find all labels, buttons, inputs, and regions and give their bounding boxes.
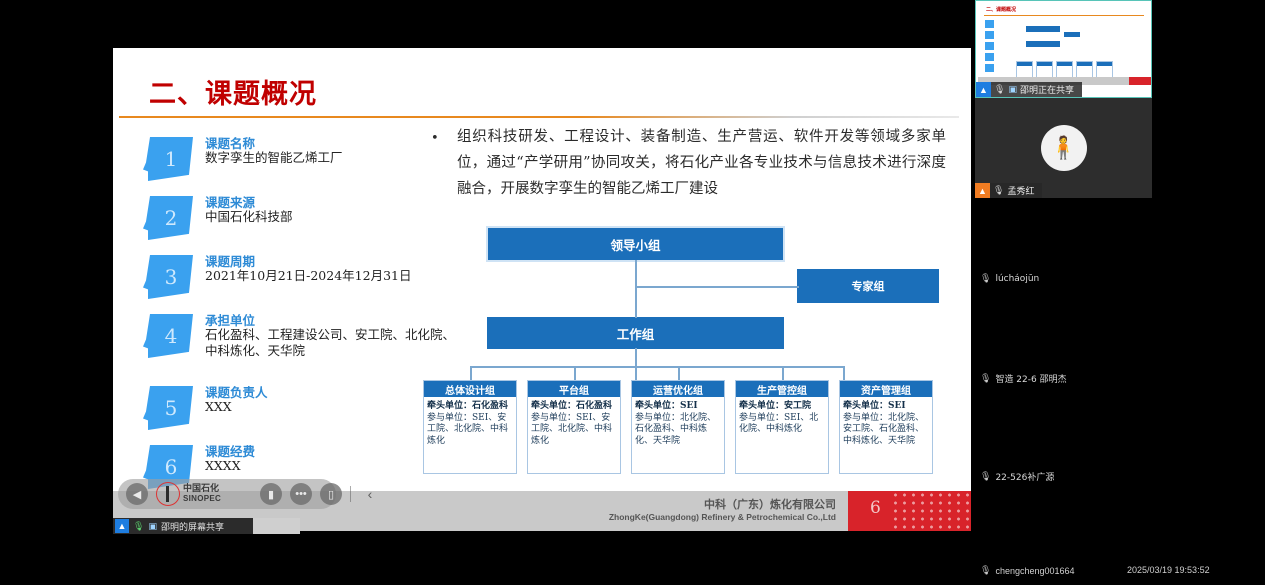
org-leaf-body: 牵头单位：石化盈科 参与单位：SEI、安工院、北化院、中科炼化	[528, 398, 620, 447]
slide-title: 二、课题概况	[149, 72, 317, 111]
participant-name: 22-526补广源	[995, 470, 1054, 483]
camera-icon: ▣	[1008, 84, 1017, 95]
org-leaf-title: 资产管理组	[840, 381, 932, 398]
participant-name-row: 🎙 lúcháojūn	[980, 274, 1039, 284]
org-node-worker: 工作组	[488, 318, 783, 348]
shared-screen-stage: 二、课题概况 1 课题名称 数字孪生的智能乙烯工厂 2 课题来源 中国石化科技部…	[0, 0, 975, 538]
status-user: 🎙 chengcheng001664	[980, 565, 1075, 576]
speaking-indicator-icon: ▲	[975, 183, 990, 198]
participant-name: 智造 22-6 邵明杰	[995, 372, 1066, 385]
lead-value: SEI	[680, 401, 698, 411]
share-indicator-bar: ▲ 🎙 ▣ 邵明的屏幕共享	[113, 518, 253, 534]
org-leaf-body: 牵头单位：SEI 参与单位：北化院、安工院、石化盈科、中科炼化、天华院	[840, 398, 932, 447]
member-label: 参与单位：	[635, 413, 680, 423]
avatar: 🧍	[1041, 125, 1087, 171]
mini-badge	[985, 64, 994, 72]
member-label: 参与单位：	[531, 413, 576, 423]
share-indicator-label: 邵明的屏幕共享	[161, 520, 224, 533]
mini-slide-title: 二、课题概况	[986, 6, 1016, 13]
bullet-icon: •	[431, 126, 439, 152]
stage-bottom-filler	[0, 538, 975, 585]
mini-badge	[985, 42, 994, 50]
mini-org-leader	[1026, 26, 1060, 32]
lead-label: 牵头单位：	[843, 401, 888, 411]
item-number-badge: 4	[143, 314, 193, 358]
org-connector	[470, 366, 843, 368]
org-connector	[470, 366, 472, 380]
mini-org-worker	[1026, 41, 1060, 47]
org-connector	[635, 286, 799, 288]
chevron-left-icon[interactable]: ‹	[359, 483, 381, 505]
title-divider	[119, 116, 959, 118]
paragraph-text: 组织科技研发、工程设计、装备制造、生产营运、软件开发等领域多家单位，通过“产学研…	[457, 124, 946, 202]
lead-value: 石化盈科	[576, 401, 612, 411]
sinopec-logo: 中国石化 SINOPEC	[156, 481, 252, 507]
mini-badge	[985, 31, 994, 39]
org-leaf-body: 牵头单位：石化盈科 参与单位：SEI、安工院、北化院、中科炼化	[424, 398, 516, 447]
sinopec-en: SINOPEC	[183, 494, 221, 504]
share-indicator-tail	[253, 518, 300, 534]
org-node-leader: 领导小组	[488, 228, 783, 260]
org-connector	[635, 348, 637, 380]
slide-page-number: 6	[870, 498, 881, 518]
participant-name: lúcháojūn	[995, 274, 1039, 284]
participant-name-row: 🎙 智造 22-6 邵明杰	[980, 372, 1067, 385]
toolbar-divider	[350, 486, 351, 502]
self-video-tile[interactable]: 🧍 ▲ 🎙 孟秀红	[975, 98, 1152, 198]
mini-badge	[985, 53, 994, 61]
org-leaf-node: 资产管理组 牵头单位：SEI 参与单位：北化院、安工院、石化盈科、中科炼化、天华…	[839, 380, 933, 474]
participant-list: 🎙 lúcháojūn 🎙 智造 22-6 邵明杰 🎙 22-526补广源	[975, 270, 1265, 564]
org-leaf-title: 生产管控组	[736, 381, 828, 398]
more-dots-icon[interactable]: •••	[290, 483, 312, 505]
slide-paragraph: • 组织科技研发、工程设计、装备制造、生产营运、软件开发等领域多家单位，通过“产…	[431, 124, 946, 202]
sinopec-logo-text: 中国石化 SINOPEC	[183, 484, 221, 504]
org-leaf-title: 运营优化组	[632, 381, 724, 398]
sinopec-mark-icon	[156, 482, 180, 506]
mini-divider	[984, 15, 1144, 16]
mini-badge	[985, 20, 994, 28]
lead-value: 安工院	[784, 401, 811, 411]
org-leaf-node: 运营优化组 牵头单位：SEI 参与单位：北化院、石化盈科、中科炼化、天华院	[631, 380, 725, 474]
self-tile-name: 孟秀红	[1007, 184, 1034, 197]
item-number-badge: 1	[143, 137, 193, 181]
item-number-badge: 3	[143, 255, 193, 299]
lead-value: SEI	[888, 401, 906, 411]
org-connector	[843, 366, 845, 380]
status-timestamp: 2025/03/19 19:53:52	[1127, 565, 1210, 575]
org-connector	[635, 260, 637, 318]
mic-muted-icon: 🎙	[980, 274, 991, 284]
list-item: 1 课题名称 数字孪生的智能乙烯工厂	[143, 133, 463, 192]
presentation-slide: 二、课题概况 1 课题名称 数字孪生的智能乙烯工厂 2 课题来源 中国石化科技部…	[113, 48, 971, 531]
status-user-name: chengcheng001664	[995, 566, 1074, 576]
camera-icon[interactable]: ▮	[260, 483, 282, 505]
lead-label: 牵头单位：	[427, 401, 472, 411]
mini-slide-preview: 二、课题概况	[978, 3, 1151, 85]
org-node-expert: 专家组	[798, 270, 938, 302]
mic-icon[interactable]: 🎙	[133, 521, 144, 532]
mic-muted-icon: 🎙	[980, 374, 991, 384]
item-body: 数字孪生的智能乙烯工厂	[205, 150, 465, 166]
org-connector	[574, 366, 576, 380]
org-leaf-body: 牵头单位：安工院 参与单位：SEI、北化院、中科炼化	[736, 398, 828, 436]
participant-row[interactable]: 🎙 lúcháojūn	[975, 270, 1265, 368]
org-leaf-title: 总体设计组	[424, 381, 516, 398]
lead-value: 石化盈科	[472, 401, 508, 411]
footer-company-cn: 中科（广东）炼化有限公司	[704, 496, 836, 512]
mic-muted-icon: 🎙	[994, 84, 1005, 95]
org-connector	[678, 366, 680, 380]
member-label: 参与单位：	[427, 413, 472, 423]
org-leaf-title: 平台组	[528, 381, 620, 398]
org-chart: 领导小组 专家组 工作组 总体设计组 牵头单位：石化盈科	[413, 228, 958, 513]
mic-muted-icon: 🎙	[980, 565, 991, 576]
footer-company-en: ZhongKe(Guangdong) Refinery & Petrochemi…	[609, 512, 836, 522]
participant-row[interactable]: 🎙 22-526补广源	[975, 466, 1265, 564]
item-body: 中国石化科技部	[205, 209, 465, 225]
presenter-toolbar[interactable]: ◀ 中国石化 SINOPEC ▮ ••• ▯ ‹	[118, 479, 336, 509]
lead-label: 牵头单位：	[739, 401, 784, 411]
footer-accent-block: 6	[848, 491, 971, 531]
shared-screen-thumbnail[interactable]: 二、课题概况 ▲ 🎙 ▣ 邵明正在共	[975, 0, 1152, 98]
participant-rail: 二、课题概况 ▲ 🎙 ▣ 邵明正在共	[975, 0, 1265, 585]
self-tile-name-label: ▲ 🎙 孟秀红	[975, 183, 1042, 198]
org-leaf-node: 平台组 牵头单位：石化盈科 参与单位：SEI、安工院、北化院、中科炼化	[527, 380, 621, 474]
dot-pattern-decoration	[891, 491, 971, 531]
slide-frame: 二、课题概况 1 课题名称 数字孪生的智能乙烯工厂 2 课题来源 中国石化科技部…	[113, 48, 971, 531]
mic-muted-icon: 🎙	[980, 472, 991, 482]
share-screen-icon: ▲	[976, 82, 991, 97]
mobile-icon[interactable]: ▯	[320, 483, 342, 505]
participant-name-row: 🎙 22-526补广源	[980, 470, 1054, 483]
org-leaf-node: 生产管控组 牵头单位：安工院 参与单位：SEI、北化院、中科炼化	[735, 380, 829, 474]
back-arrow-icon[interactable]: ◀	[126, 483, 148, 505]
share-screen-icon: ▲	[115, 519, 129, 533]
mic-muted-icon: 🎙	[993, 185, 1004, 196]
camera-icon[interactable]: ▣	[148, 521, 157, 532]
lead-label: 牵头单位：	[531, 401, 576, 411]
item-number-badge: 2	[143, 196, 193, 240]
org-connector	[782, 366, 784, 380]
mini-org-expert	[1064, 32, 1080, 37]
lead-label: 牵头单位：	[635, 401, 680, 411]
item-number-badge: 5	[143, 386, 193, 430]
meeting-window: 二、课题概况 1 课题名称 数字孪生的智能乙烯工厂 2 课题来源 中国石化科技部…	[0, 0, 1265, 585]
sinopec-cn: 中国石化	[183, 484, 219, 494]
participant-row[interactable]: 🎙 智造 22-6 邵明杰	[975, 368, 1265, 466]
org-leaf-node: 总体设计组 牵头单位：石化盈科 参与单位：SEI、安工院、北化院、中科炼化	[423, 380, 517, 474]
member-label: 参与单位：	[739, 413, 784, 423]
status-bar: 🎙 chengcheng001664 2025/03/19 19:53:52	[975, 565, 1265, 579]
thumbnail-name-label: ▲ 🎙 ▣ 邵明正在共享	[976, 82, 1082, 97]
org-leaf-body: 牵头单位：SEI 参与单位：北化院、石化盈科、中科炼化、天华院	[632, 398, 724, 447]
member-label: 参与单位：	[843, 413, 888, 423]
thumbnail-share-text: 邵明正在共享	[1020, 83, 1074, 96]
